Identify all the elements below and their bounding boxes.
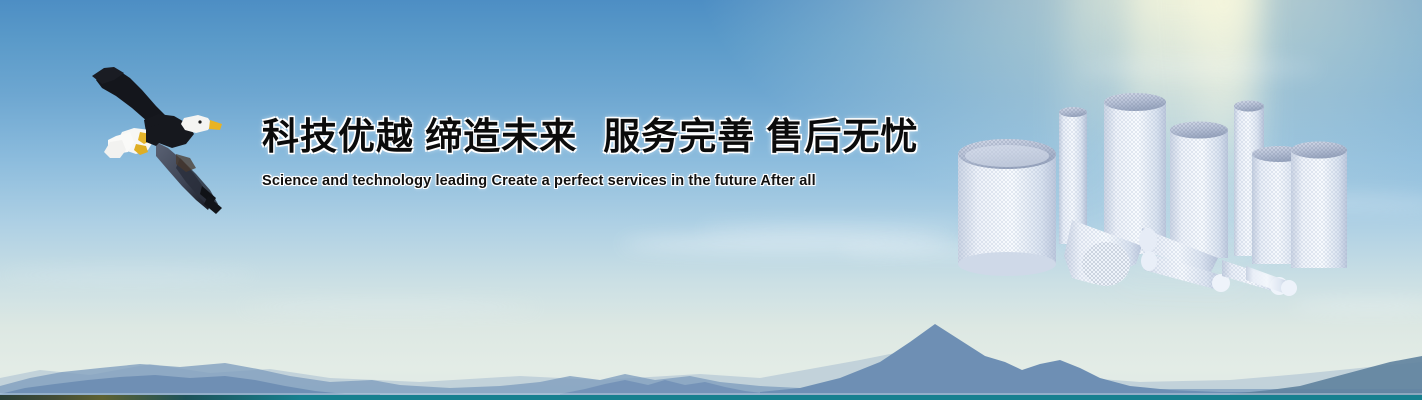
headline-part-1: 科技优越 缔造未来 <box>262 116 577 157</box>
banner-text-block: 科技优越 缔造未来服务完善 售后无忧 Science and technolog… <box>262 112 822 189</box>
filter-cartridge <box>1291 142 1347 269</box>
wispy-cloud <box>1080 58 1320 78</box>
page-title: 科技优越 缔造未来服务完善 售后无忧 <box>262 112 822 162</box>
bottom-strip-artifact <box>0 395 300 400</box>
filter-cartridge <box>958 139 1056 276</box>
wispy-cloud <box>0 268 260 282</box>
headline-part-2: 服务完善 售后无忧 <box>603 116 918 157</box>
filter-cartridge <box>1170 122 1228 259</box>
bald-eagle-icon <box>84 58 230 224</box>
wispy-cloud <box>700 224 960 235</box>
melt-blown-filter-cartridges <box>946 88 1356 308</box>
page-subtitle: Science and technology leading Create a … <box>262 173 822 189</box>
filter-cartridge <box>1246 266 1297 296</box>
hero-banner: 科技优越 缔造未来服务完善 售后无忧 Science and technolog… <box>0 0 1422 400</box>
filter-cartridge <box>1104 93 1166 254</box>
